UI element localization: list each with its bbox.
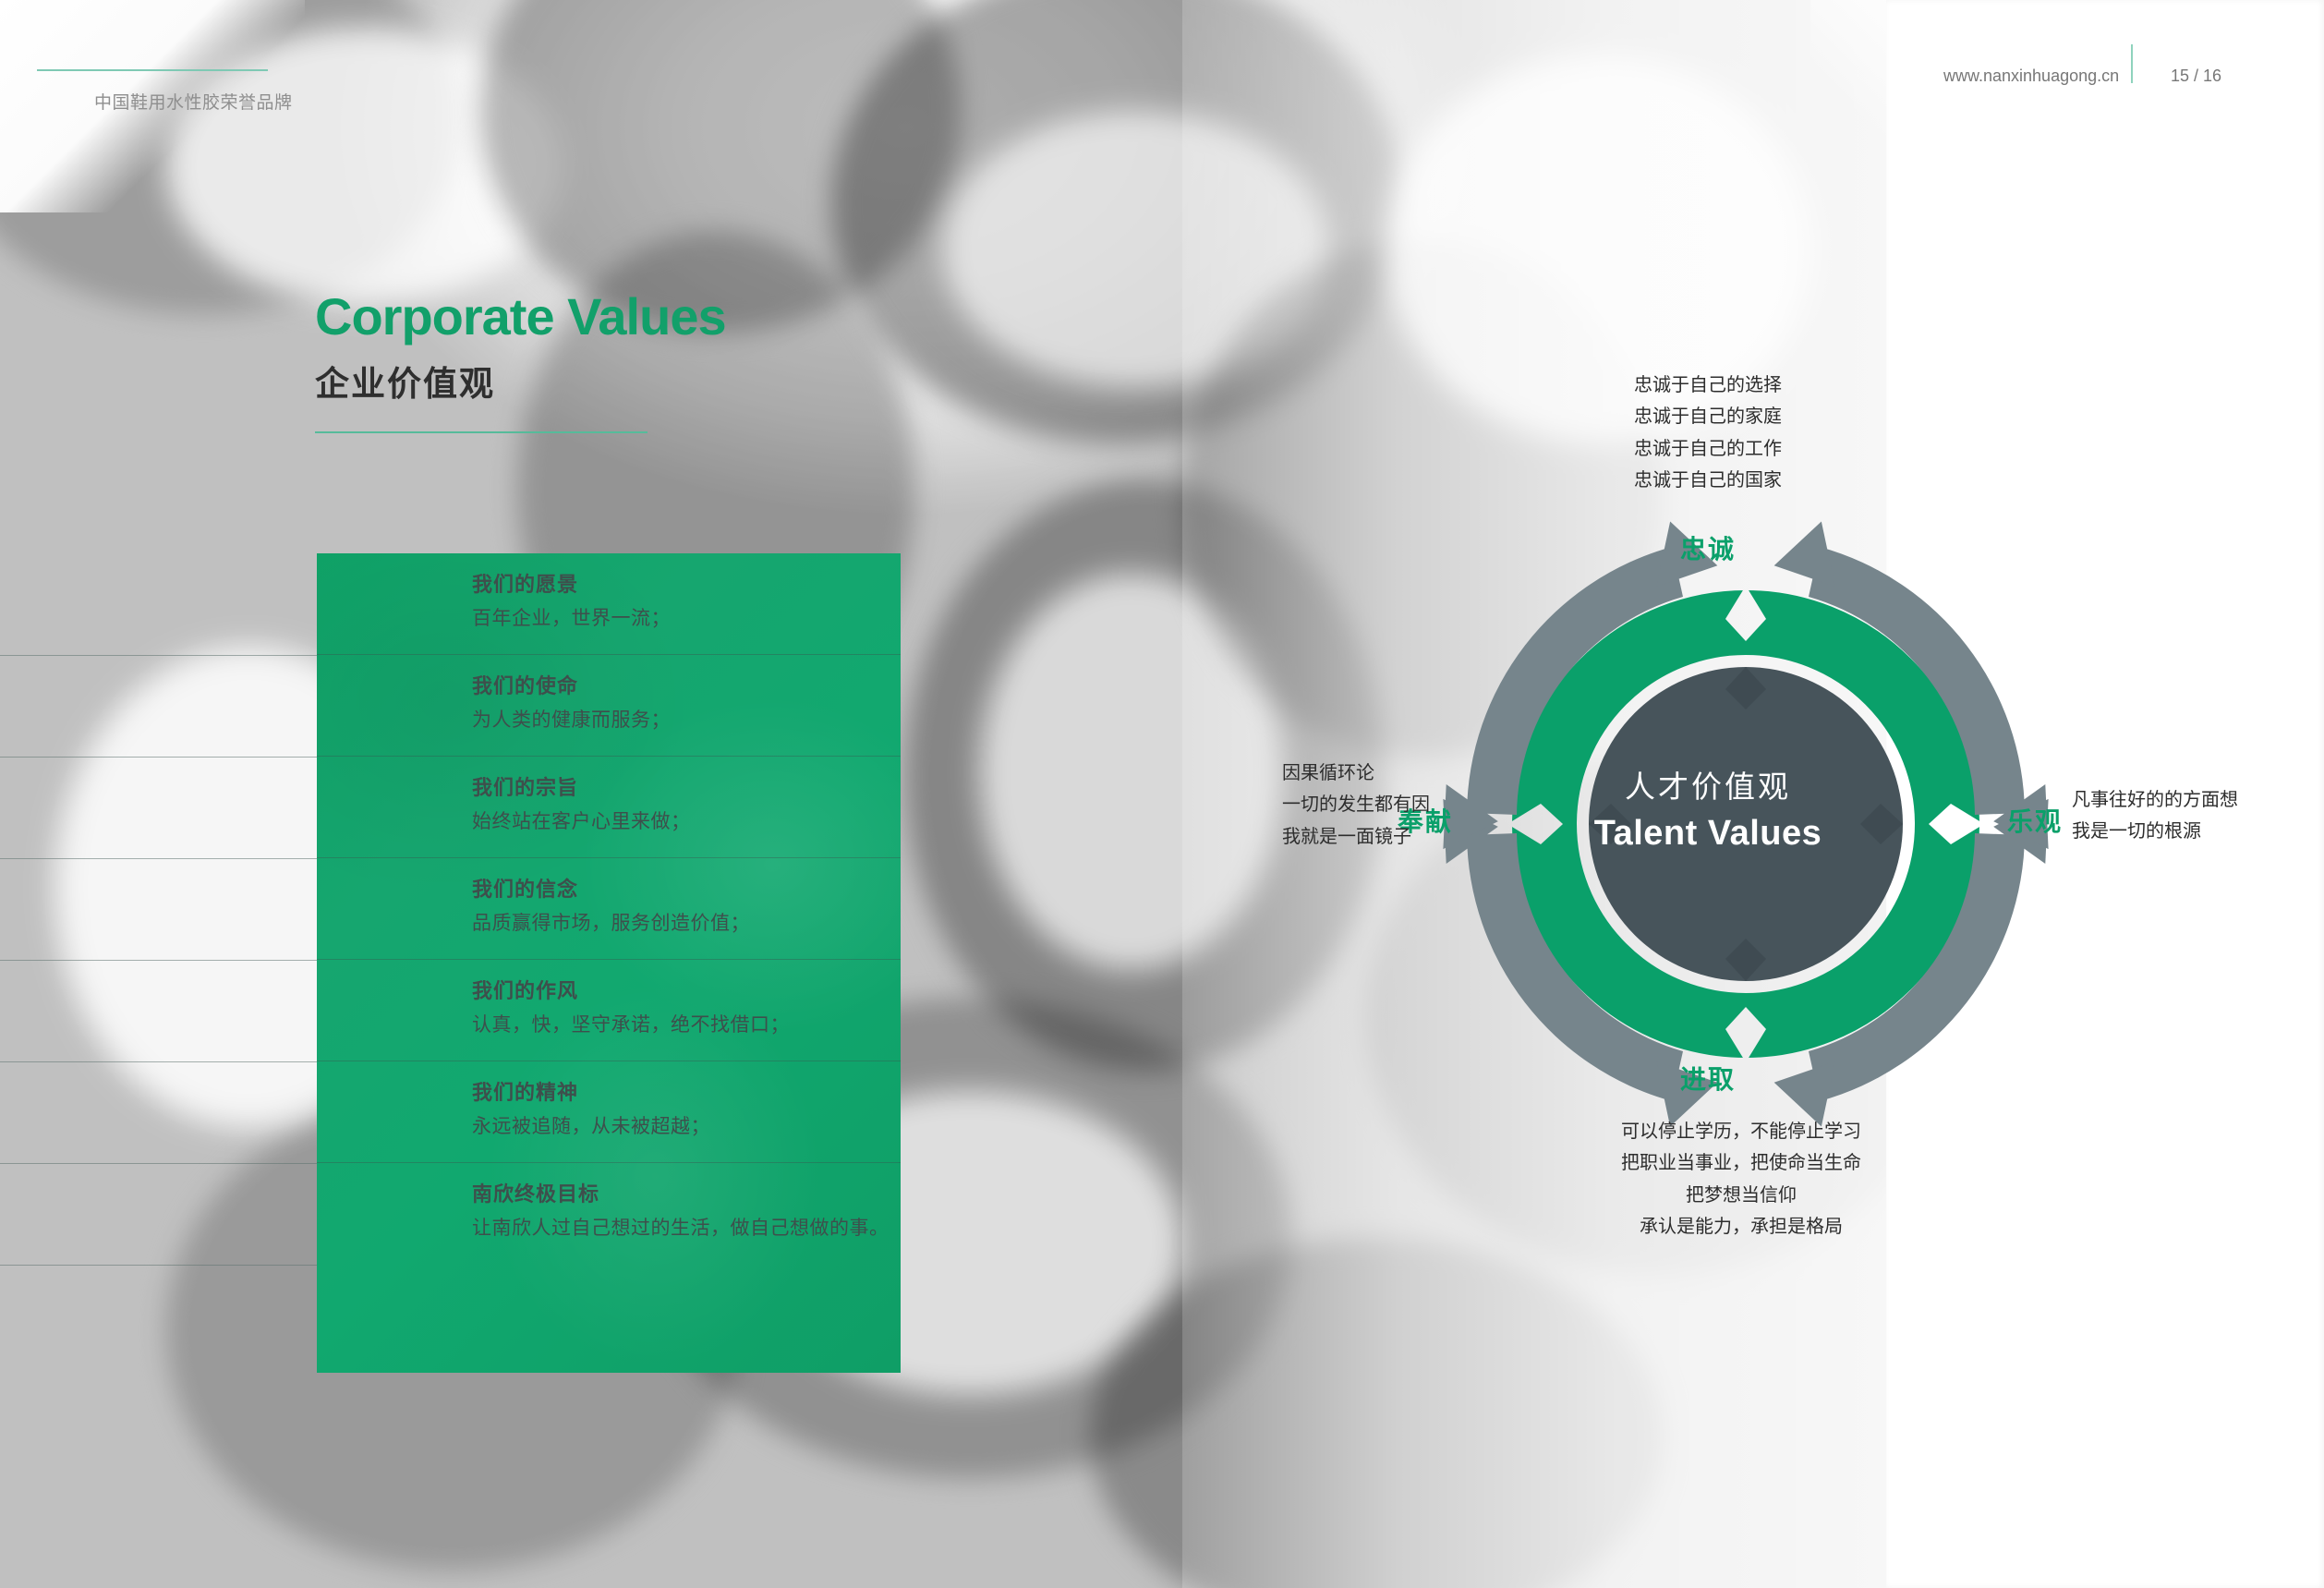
quadrant-label-progress: 进取	[1680, 1060, 1736, 1097]
value-row: 南欣终极目标 让南欣人过自己想过的生活，做自己想做的事。	[317, 1163, 901, 1265]
value-desc: 认真，快，坚守承诺，绝不找借口；	[472, 1013, 901, 1037]
value-title: 我们的宗旨	[472, 775, 901, 801]
panel-edge-rule	[0, 1061, 317, 1062]
quadrant-note-progress: 可以停止学历，不能停止学习 把职业当事业，把使命当生命 把梦想当信仰 承认是能力…	[1621, 1116, 1861, 1243]
panel-edge-rule	[0, 1163, 317, 1164]
panel-edge-rule	[0, 757, 317, 758]
panel-edge-rule	[0, 655, 317, 656]
value-title: 我们的信念	[472, 877, 901, 903]
note-line: 忠诚于自己的工作	[1634, 433, 1782, 465]
header-tagline: 中国鞋用水性胶荣誉品牌	[94, 89, 293, 114]
value-title: 我们的使命	[472, 673, 901, 699]
value-desc: 始终站在客户心里来做；	[472, 810, 901, 834]
panel-edge-rule	[0, 1265, 317, 1266]
value-row: 我们的精神 永远被追随，从未被超越；	[317, 1061, 901, 1163]
diagram-center-text: 人才价值观 Talent Values	[1514, 769, 1902, 856]
note-line: 把梦想当信仰	[1621, 1180, 1861, 1211]
note-line: 忠诚于自己的选择	[1634, 370, 1782, 401]
value-title: 我们的精神	[472, 1080, 901, 1106]
note-line: 我就是一面镜子	[1282, 821, 1430, 853]
value-desc: 品质赢得市场，服务创造价值；	[472, 912, 901, 936]
value-title: 南欣终极目标	[472, 1182, 901, 1207]
page-title-chinese: 企业价值观	[315, 356, 495, 406]
header-accent-rule	[37, 69, 268, 71]
value-desc: 让南欣人过自己想过的生活，做自己想做的事。	[472, 1217, 901, 1241]
value-row: 我们的宗旨 始终站在客户心里来做；	[317, 757, 901, 858]
value-row: 我们的作风 认真，快，坚守承诺，绝不找借口；	[317, 960, 901, 1061]
note-line: 一切的发生都有因	[1282, 789, 1430, 820]
quadrant-note-devotion: 因果循环论 一切的发生都有因 我就是一面镜子	[1282, 758, 1430, 853]
panel-edge-rule	[0, 960, 317, 961]
value-title: 我们的愿景	[472, 572, 901, 598]
slide-page: 中国鞋用水性胶荣誉品牌 www.nanxinhuagong.cn 15 / 16…	[0, 0, 2324, 1588]
value-title: 我们的作风	[472, 978, 901, 1004]
corporate-values-panel: 我们的愿景 百年企业，世界一流； 我们的使命 为人类的健康而服务； 我们的宗旨 …	[317, 553, 901, 1373]
note-line: 忠诚于自己的家庭	[1634, 401, 1782, 432]
note-line: 我是一切的根源	[2072, 816, 2238, 847]
note-line: 承认是能力，承担是格局	[1621, 1211, 1861, 1243]
title-underline-rule	[315, 431, 648, 433]
value-row: 我们的愿景 百年企业，世界一流；	[317, 553, 901, 655]
quadrant-note-loyalty: 忠诚于自己的选择 忠诚于自己的家庭 忠诚于自己的工作 忠诚于自己的国家	[1634, 370, 1782, 497]
note-line: 忠诚于自己的国家	[1634, 465, 1782, 496]
panel-edge-rule	[0, 858, 317, 859]
quadrant-note-optimism: 凡事往好的的方面想 我是一切的根源	[2072, 784, 2238, 848]
quadrant-label-optimism: 乐观	[2007, 802, 2063, 839]
value-desc: 永远被追随，从未被超越；	[472, 1115, 901, 1139]
note-line: 把职业当事业，把使命当生命	[1621, 1147, 1861, 1179]
value-row: 我们的信念 品质赢得市场，服务创造价值；	[317, 858, 901, 960]
header-website-url: www.nanxinhuagong.cn	[1943, 67, 2119, 86]
page-title-english: Corporate Values	[315, 286, 726, 346]
center-title-english: Talent Values	[1514, 811, 1902, 856]
values-list: 我们的愿景 百年企业，世界一流； 我们的使命 为人类的健康而服务； 我们的宗旨 …	[317, 553, 901, 1265]
header-divider	[2131, 44, 2133, 83]
note-line: 因果循环论	[1282, 758, 1430, 789]
value-row: 我们的使命 为人类的健康而服务；	[317, 655, 901, 757]
note-line: 可以停止学历，不能停止学习	[1621, 1116, 1861, 1147]
note-line: 凡事往好的的方面想	[2072, 784, 2238, 816]
page-number-indicator: 15 / 16	[2171, 67, 2221, 86]
value-desc: 为人类的健康而服务；	[472, 709, 901, 733]
center-title-chinese: 人才价值观	[1514, 769, 1902, 806]
quadrant-label-loyalty: 忠诚	[1680, 529, 1736, 566]
value-desc: 百年企业，世界一流；	[472, 607, 901, 631]
